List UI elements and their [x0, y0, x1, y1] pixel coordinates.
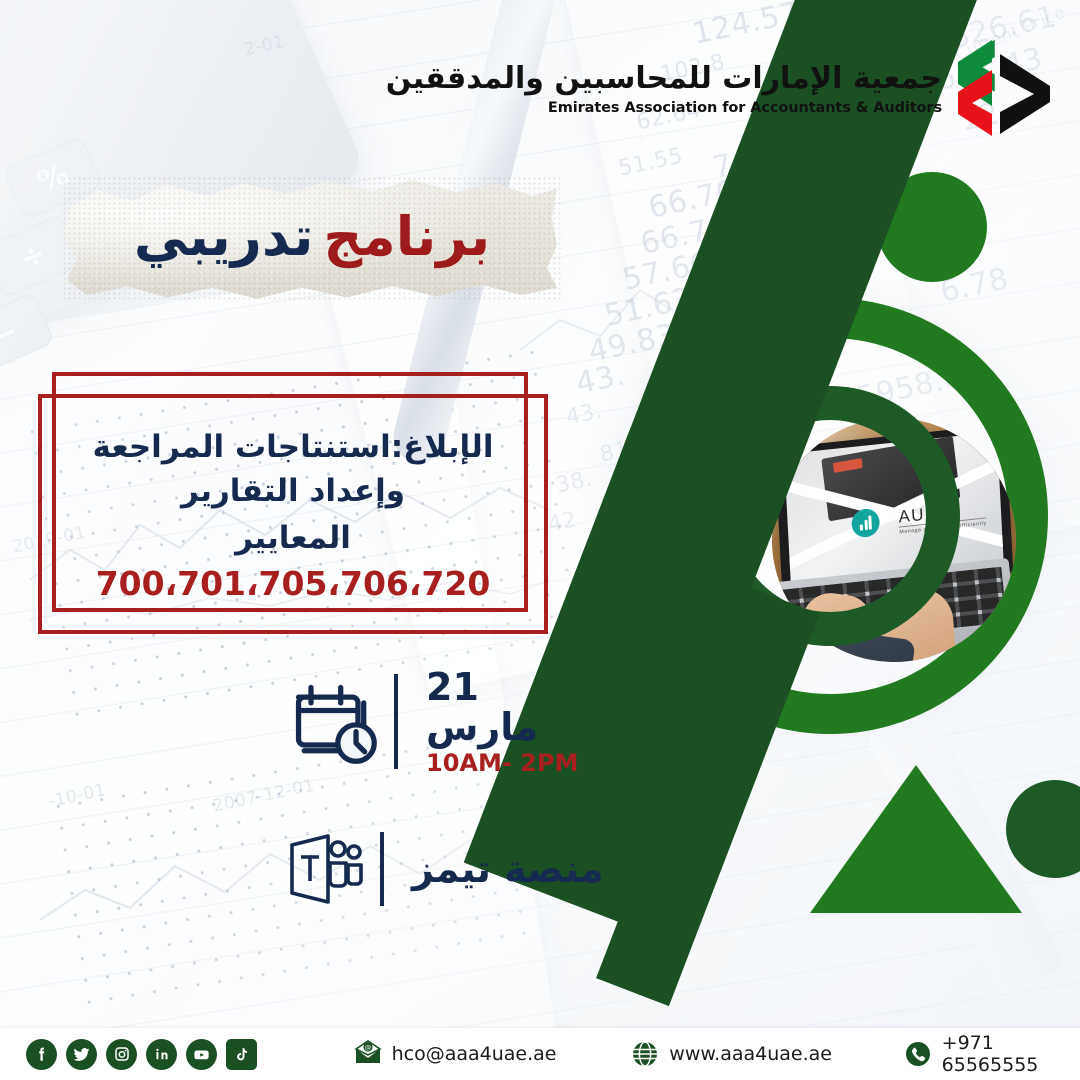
course-title-content: الإبلاغ:استنتاجات المراجعة وإعداد التقار… — [38, 394, 548, 634]
event-month: مارس — [426, 708, 538, 746]
envelope-at-icon: @ — [354, 1040, 382, 1068]
date-divider — [394, 674, 398, 769]
instagram-icon[interactable] — [106, 1039, 137, 1070]
linkedin-icon[interactable] — [146, 1039, 177, 1070]
banner-title-word-1: برنامج — [323, 205, 490, 268]
platform-label: منصة تيمز — [398, 847, 604, 891]
event-day: 21 — [426, 668, 479, 706]
twitter-icon[interactable] — [66, 1039, 97, 1070]
torn-paper-banner: برنامج تدريبي — [62, 176, 562, 300]
event-date-row: 21 مارس 10AM- 2PM — [288, 668, 578, 775]
svg-text:@: @ — [364, 1044, 370, 1052]
banner-title-word-2: تدريبي — [134, 205, 314, 268]
org-name-arabic: جمعية الإمارات للمحاسبين والمدققين — [386, 60, 942, 98]
youtube-icon[interactable] — [186, 1039, 217, 1070]
calendar-clock-icon — [288, 676, 380, 768]
contact-website[interactable]: www.aaa4uae.ae — [631, 1040, 832, 1068]
phone-icon — [904, 1040, 932, 1068]
brand-logo: جمعية الإمارات للمحاسبين والمدققين Emira… — [386, 36, 1052, 140]
phone-text: +971 65565555 — [942, 1032, 1054, 1076]
social-links — [26, 1039, 257, 1070]
contact-email[interactable]: @ hco@aaa4uae.ae — [354, 1040, 557, 1068]
banner-title: برنامج تدريبي — [62, 176, 562, 300]
standards-label: المعايير — [235, 516, 351, 560]
flyer-canvas: % ÷ − 124.57 102.8 62.64 51.55 74.25 66.… — [0, 0, 1080, 1080]
logo-text-block: جمعية الإمارات للمحاسبين والمدققين Emira… — [386, 60, 942, 117]
email-text: hco@aaa4uae.ae — [392, 1043, 557, 1065]
event-time: 10AM- 2PM — [426, 751, 578, 775]
event-date-text: 21 مارس 10AM- 2PM — [412, 668, 578, 775]
platform-divider — [380, 832, 384, 906]
contact-phone[interactable]: +971 65565555 — [904, 1032, 1054, 1076]
course-title-line-1: الإبلاغ:استنتاجات المراجعة — [93, 425, 494, 469]
course-title-frame: الإبلاغ:استنتاجات المراجعة وإعداد التقار… — [38, 372, 568, 654]
footer-bar: @ hco@aaa4uae.ae www.aaa4uae.ae +971 655… — [0, 1028, 1080, 1080]
facebook-icon[interactable] — [26, 1039, 57, 1070]
standards-numbers: 700،701،705،706،720 — [96, 564, 491, 603]
event-platform-row: منصة تيمز — [288, 832, 604, 906]
course-title-line-2: وإعداد التقارير — [181, 469, 405, 513]
microsoft-teams-icon — [288, 833, 366, 905]
tiktok-icon[interactable] — [226, 1039, 257, 1070]
eaaa-chevron-logo-icon — [956, 36, 1052, 140]
website-text: www.aaa4uae.ae — [669, 1043, 832, 1065]
org-name-english: Emirates Association for Accountants & A… — [386, 100, 942, 116]
globe-icon — [631, 1040, 659, 1068]
